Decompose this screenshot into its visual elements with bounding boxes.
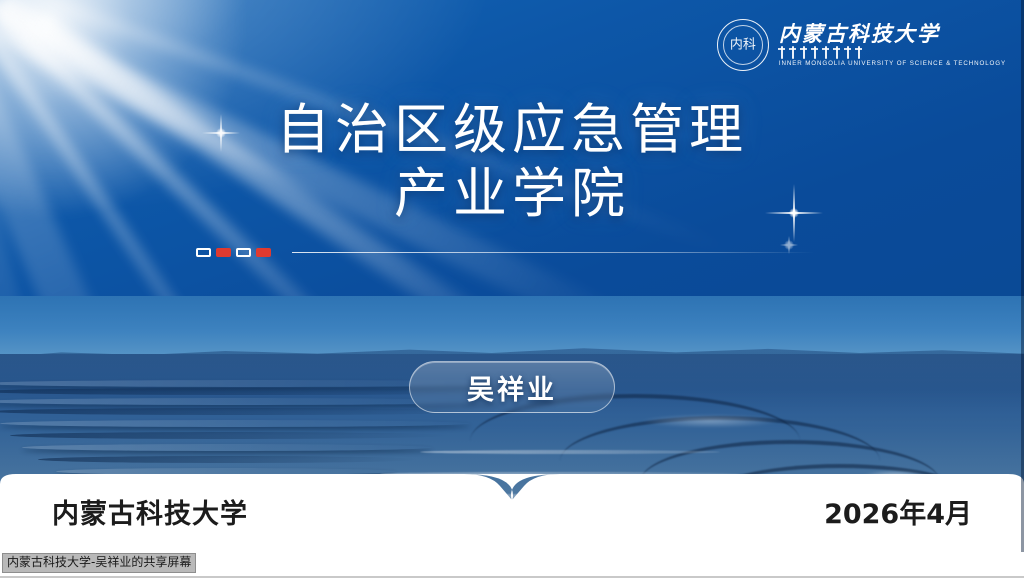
divider-rule bbox=[292, 252, 814, 253]
snow-patch bbox=[640, 414, 780, 428]
seal-glyph: 内科 bbox=[718, 40, 768, 51]
divider-dash bbox=[236, 248, 251, 257]
presenter-name: 吴祥业 bbox=[467, 368, 557, 407]
presentation-slide: 内科 内蒙古科技大学 INNER MONGOLIA UNIVERSITY OF … bbox=[0, 0, 1024, 552]
pit-bench bbox=[0, 408, 490, 415]
logo-wordmark: 内蒙古科技大学 INNER MONGOLIA UNIVERSITY OF SCI… bbox=[779, 22, 1006, 68]
slide-footer: 内蒙古科技大学 2026年4月 bbox=[0, 470, 1024, 552]
footer-organization: 内蒙古科技大学 bbox=[52, 492, 248, 531]
pit-bench bbox=[0, 420, 470, 427]
screen-share-label: 内蒙古科技大学-吴祥业的共享屏幕 bbox=[2, 553, 196, 573]
title-line-1: 自治区级应急管理 bbox=[0, 98, 1024, 162]
photo-sky bbox=[0, 296, 1024, 358]
title-line-2: 产业学院 bbox=[0, 162, 1024, 226]
logo-name-cn: 内蒙古科技大学 bbox=[779, 22, 1006, 45]
mine-road bbox=[420, 450, 720, 454]
pit-bench bbox=[10, 432, 450, 439]
logo-name-en: INNER MONGOLIA UNIVERSITY OF SCIENCE & T… bbox=[779, 60, 1006, 68]
university-seal-icon: 内科 bbox=[717, 19, 769, 71]
divider-dash bbox=[256, 248, 271, 257]
slide-title: 自治区级应急管理 产业学院 bbox=[0, 98, 1024, 226]
screen-share-viewport: 内科 内蒙古科技大学 INNER MONGOLIA UNIVERSITY OF … bbox=[0, 0, 1024, 578]
presenter-name-badge: 吴祥业 bbox=[409, 361, 615, 413]
pit-bench bbox=[22, 444, 432, 451]
divider-dash bbox=[216, 248, 231, 257]
footer-date: 2026年4月 bbox=[824, 492, 972, 531]
title-divider bbox=[0, 248, 1024, 257]
divider-dash bbox=[196, 248, 211, 257]
university-logo: 内科 内蒙古科技大学 INNER MONGOLIA UNIVERSITY OF … bbox=[717, 14, 1006, 76]
pit-bench bbox=[38, 456, 418, 463]
logo-mongolian-script bbox=[779, 46, 1006, 59]
